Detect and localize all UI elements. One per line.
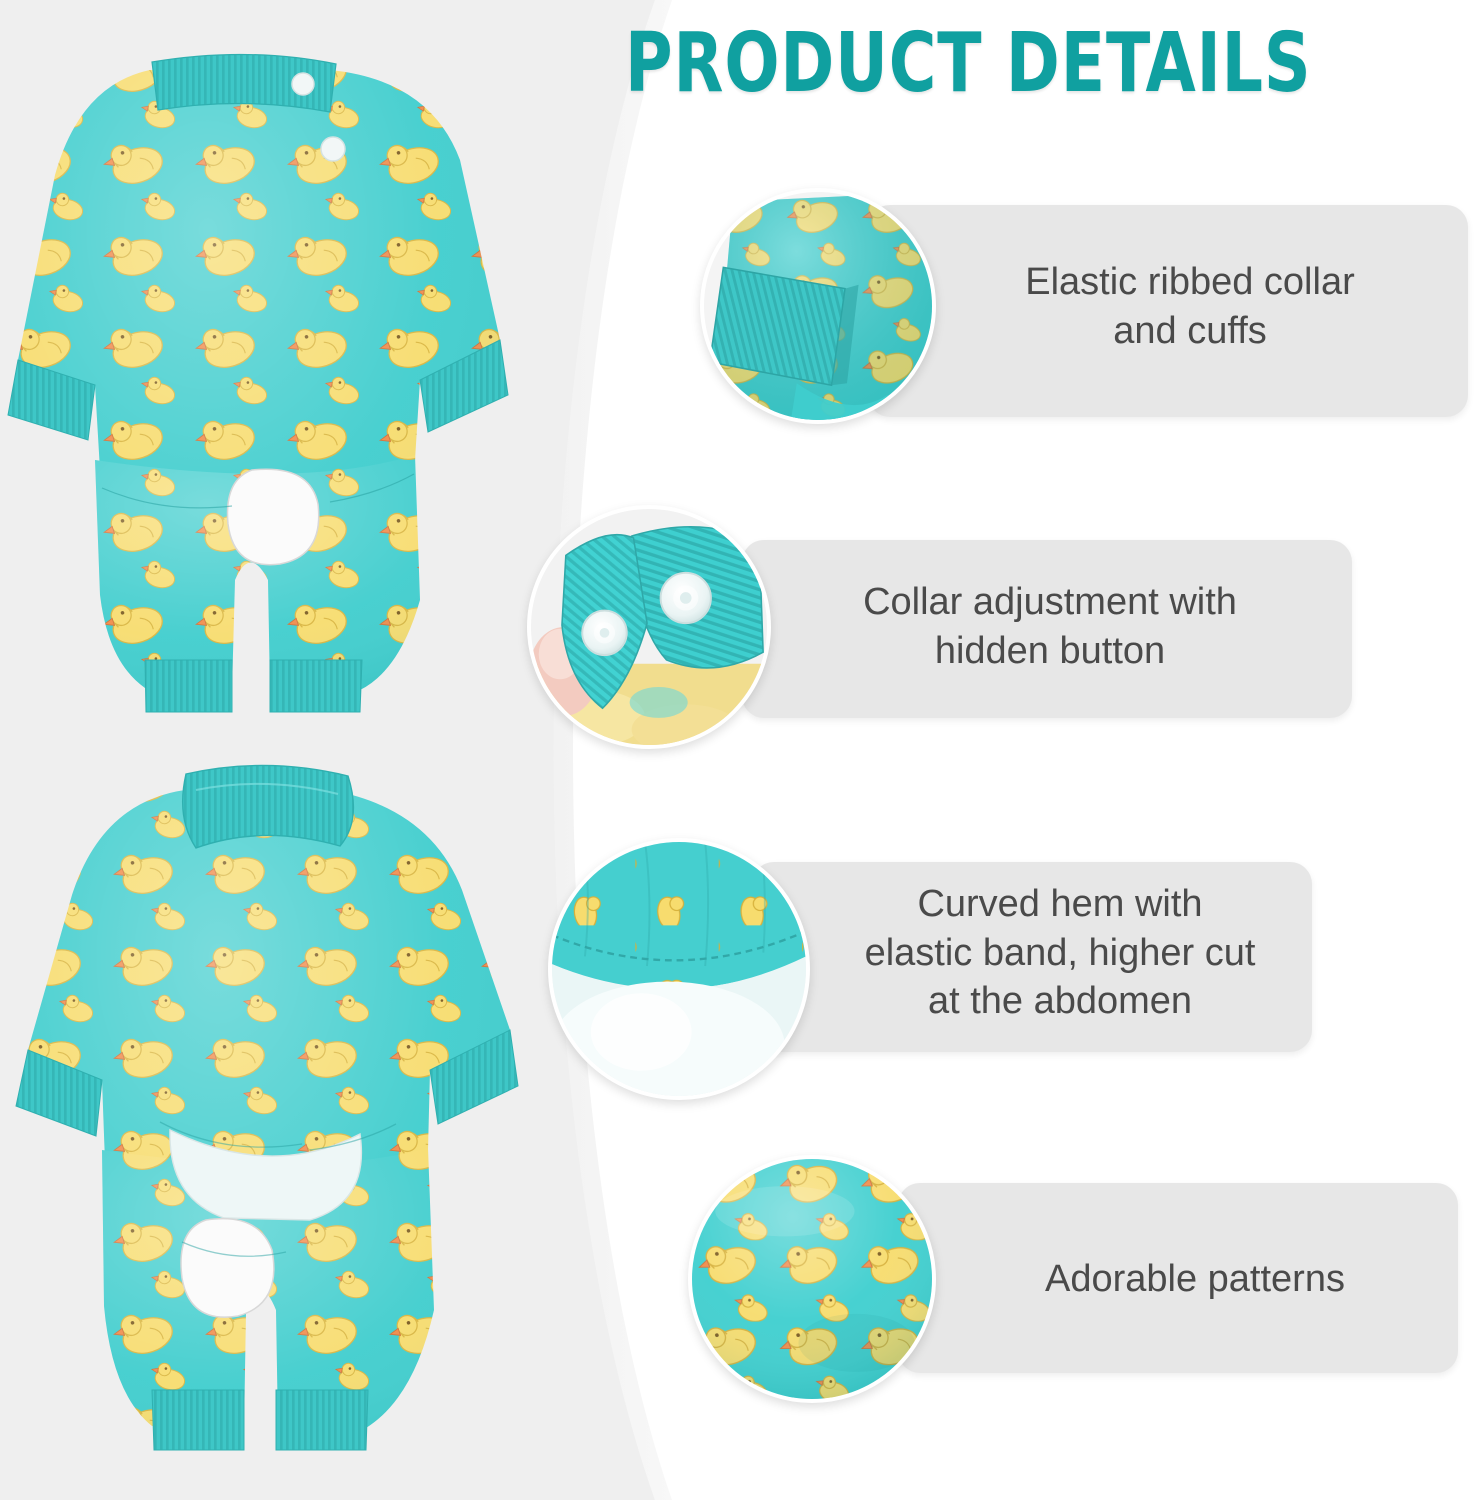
feature-caption: Adorable patterns (960, 1255, 1430, 1304)
product-photo-area (0, 0, 540, 1500)
snap-button-icon (582, 611, 626, 655)
snap-button-icon (321, 137, 345, 161)
collar-cuff-detail-icon (700, 188, 936, 424)
product-photo-back-view (0, 40, 520, 720)
product-photo-front-view (10, 750, 530, 1490)
feature-caption: Collar adjustment with hidden button (790, 578, 1310, 675)
feature-caption: Elastic ribbed collar and cuffs (955, 258, 1425, 355)
hidden-button-detail-icon (527, 505, 771, 749)
feature-caption: Curved hem with elastic band, higher cut… (790, 880, 1330, 1026)
product-details-infographic: PRODUCT DETAILS (0, 0, 1478, 1500)
duck-pattern-detail-icon (688, 1155, 936, 1403)
curved-hem-detail-icon (548, 838, 810, 1100)
snap-button-icon (661, 573, 711, 623)
snap-button-icon (292, 73, 314, 95)
page-title: PRODUCT DETAILS (625, 16, 1364, 111)
